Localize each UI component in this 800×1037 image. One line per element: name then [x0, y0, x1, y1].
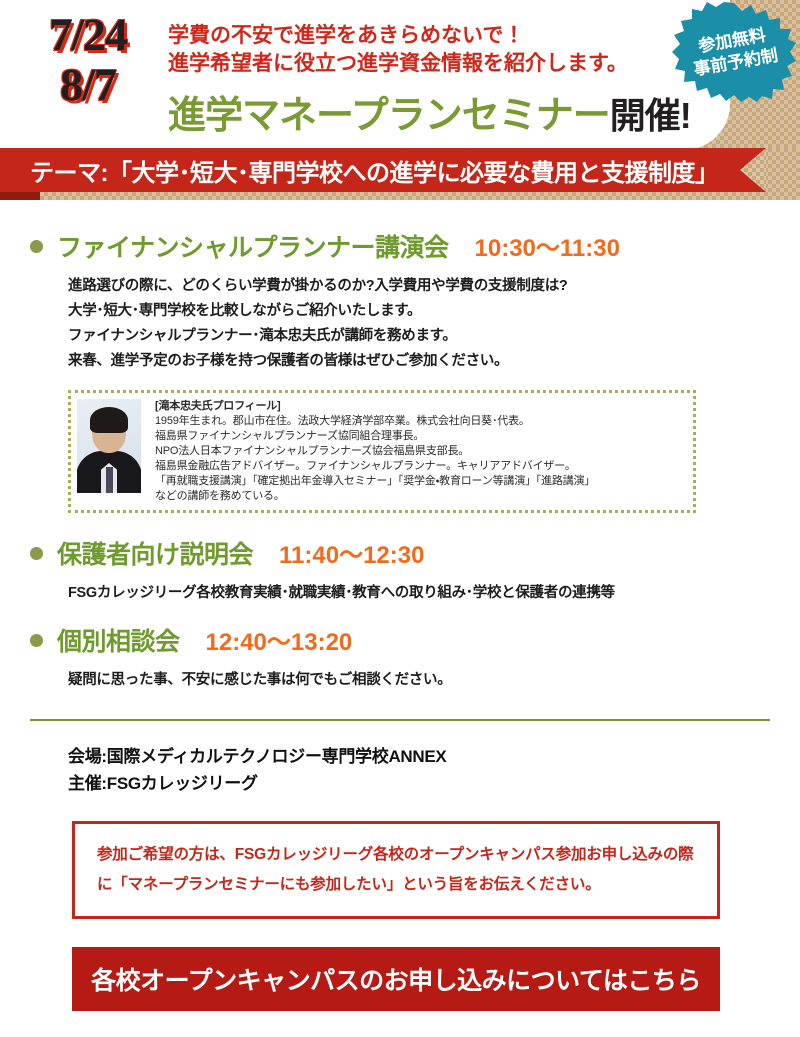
- section-title: ファイナンシャルプランナー講演会: [57, 228, 449, 264]
- headline-block: 学費の不安で進学をあきらめないで！ 進学希望者に役立つ進学資金情報を紹介します。…: [168, 22, 691, 139]
- lead-line-2: 進学希望者に役立つ進学資金情報を紹介します。: [168, 50, 691, 78]
- section-header: 保護者向け説明会 11:40〜12:30: [30, 535, 770, 571]
- venue-organizer: 主催:FSGカレッジリーグ: [68, 770, 770, 797]
- profile-line: NPO法人日本ファイナンシャルプランナーズ協会福島県支部長。: [155, 444, 687, 459]
- event-date-2: 8/7: [18, 60, 158, 110]
- speaker-profile-text: [滝本忠夫氏プロフィール] 1959年生まれ。郡山市在住。法政大学経済学部卒業。…: [155, 399, 687, 504]
- speaker-photo: [77, 399, 141, 493]
- theme-ribbon-area: テーマ:「大学･短大･専門学校への進学に必要な費用と支援制度」: [0, 148, 800, 200]
- seminar-title: 進学マネープランセミナー: [168, 95, 610, 137]
- open-campus-application-button[interactable]: 各校オープンキャンパスのお申し込みについてはこちら: [72, 947, 720, 1011]
- description-line: ファイナンシャルプランナー･滝本忠夫氏が講師を務めます。: [68, 324, 770, 349]
- section-guardian-briefing: 保護者向け説明会 11:40〜12:30 FSGカレッジリーグ各校教育実績･就職…: [0, 535, 800, 606]
- profile-line: などの講師を務めている。: [155, 489, 687, 504]
- profile-line: 「再就職支援講演」「確定拠出年金導入セミナー」「奨学金・教育ローン等講演」「進路…: [155, 474, 687, 489]
- venue-info: 会場:国際メディカルテクノロジー専門学校ANNEX 主催:FSGカレッジリーグ: [0, 721, 800, 797]
- starburst-shape: [672, 2, 796, 102]
- section-title: 個別相談会: [57, 622, 180, 658]
- section-description: 進路選びの際に、どのくらい学費が掛かるのか?入学費用や学費の支援制度は? 大学･…: [30, 274, 770, 374]
- lead-line-1: 学費の不安で進学をあきらめないで！: [168, 22, 691, 50]
- description-line: 来春、進学予定のお子様を持つ保護者の皆様はぜひご参加ください。: [68, 349, 770, 374]
- description-line: 疑問に思った事、不安に感じた事は何でもご相談ください。: [68, 668, 770, 693]
- notice-line-2: に「マネープランセミナーにも参加したい」という旨をお伝えください。: [97, 870, 695, 900]
- event-dates: 7/24 8/7: [18, 10, 158, 110]
- description-line: 進路選びの際に、どのくらい学費が掛かるのか?入学費用や学費の支援制度は?: [68, 274, 770, 299]
- bullet-icon: [30, 547, 43, 560]
- poster-header: 7/24 8/7 学費の不安で進学をあきらめないで！ 進学希望者に役立つ進学資金…: [0, 0, 800, 148]
- event-date-1: 7/24: [18, 10, 158, 60]
- profile-line: 福島県ファイナンシャルプランナーズ協同組合理事長。: [155, 429, 687, 444]
- section-title: 保護者向け説明会: [57, 535, 253, 571]
- cta-label: 各校オープンキャンパスのお申し込みについてはこちら: [91, 961, 701, 997]
- poster-body: ファイナンシャルプランナー講演会 10:30〜11:30 進路選びの際に、どのく…: [0, 200, 800, 1011]
- theme-ribbon: テーマ:「大学･短大･専門学校への進学に必要な費用と支援制度」: [0, 148, 766, 192]
- section-description: 疑問に思った事、不安に感じた事は何でもご相談ください。: [30, 668, 770, 693]
- section-header: ファイナンシャルプランナー講演会 10:30〜11:30: [30, 228, 770, 264]
- description-line: FSGカレッジリーグ各校教育実績･就職実績･教育への取り組み･学校と保護者の連携…: [68, 581, 770, 606]
- speaker-profile-card: [滝本忠夫氏プロフィール] 1959年生まれ。郡山市在住。法政大学経済学部卒業。…: [68, 390, 696, 513]
- profile-heading: [滝本忠夫氏プロフィール]: [155, 399, 687, 414]
- free-admission-starburst-badge: 参加無料 事前予約制: [672, 2, 796, 102]
- section-individual-consultation: 個別相談会 12:40〜13:20 疑問に思った事、不安に感じた事は何でもご相談…: [0, 622, 800, 693]
- section-header: 個別相談会 12:40〜13:20: [30, 622, 770, 658]
- profile-line: 福島県金融広告アドバイザー。ファイナンシャルプランナー。キャリアアドバイザー。: [155, 459, 687, 474]
- section-description: FSGカレッジリーグ各校教育実績･就職実績･教育への取り組み･学校と保護者の連携…: [30, 581, 770, 606]
- section-time: 11:40〜12:30: [279, 535, 424, 570]
- theme-ribbon-text: テーマ:「大学･短大･専門学校への進学に必要な費用と支援制度」: [0, 153, 719, 188]
- photo-hair-shape: [90, 407, 128, 433]
- section-time: 10:30〜11:30: [475, 228, 620, 263]
- photo-tie-shape: [106, 467, 113, 493]
- bullet-icon: [30, 634, 43, 647]
- seminar-title-row: 進学マネープランセミナー開催!: [168, 84, 691, 139]
- section-financial-planner-lecture: ファイナンシャルプランナー講演会 10:30〜11:30 進路選びの際に、どのく…: [0, 228, 800, 513]
- description-line: 大学･短大･専門学校を比較しながらご紹介いたします。: [68, 299, 770, 324]
- section-time: 12:40〜13:20: [206, 622, 353, 657]
- application-notice-box: 参加ご希望の方は、FSGカレッジリーグ各校のオープンキャンパス参加お申し込みの際…: [72, 821, 720, 919]
- notice-line-1: 参加ご希望の方は、FSGカレッジリーグ各校のオープンキャンパス参加お申し込みの際: [97, 840, 695, 870]
- venue-place: 会場:国際メディカルテクノロジー専門学校ANNEX: [68, 743, 770, 770]
- bullet-icon: [30, 240, 43, 253]
- profile-line: 1959年生まれ。郡山市在住。法政大学経済学部卒業。株式会社向日葵･代表。: [155, 414, 687, 429]
